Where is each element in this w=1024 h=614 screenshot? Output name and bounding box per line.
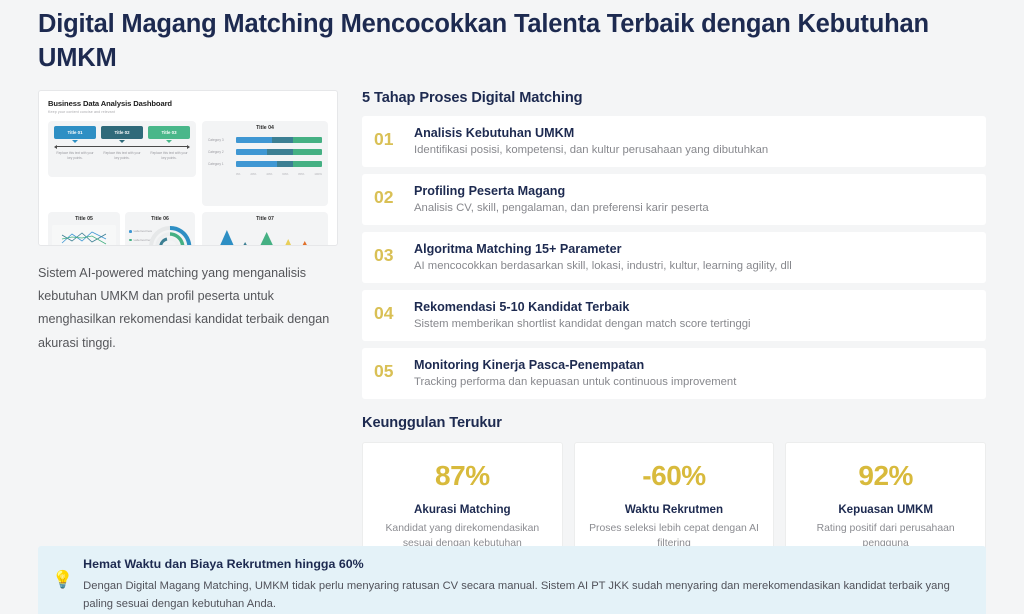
bar-axis-tick: 40% xyxy=(266,172,272,176)
dashboard-bar-row: Category 1 xyxy=(208,161,322,168)
dashboard-illustration-subtitle: Keep your content concise and relevant xyxy=(48,110,328,114)
donut-chart-icon xyxy=(147,224,193,246)
dashboard-tab-2-caption: Replace this text with your key points. xyxy=(101,151,143,161)
page-title: Digital Magang Matching Mencocokkan Tale… xyxy=(38,0,986,76)
legend-swatch-icon xyxy=(129,239,132,242)
step-description: Identifikasi posisi, kompetensi, dan kul… xyxy=(414,144,768,156)
dashboard-illustration-title: Business Data Analysis Dashboard xyxy=(48,99,328,108)
step-number: 05 xyxy=(374,358,400,382)
bar-segment-a xyxy=(236,161,277,168)
step-title: Rekomendasi 5-10 Kandidat Terbaik xyxy=(414,300,751,314)
bar-segment-a xyxy=(236,149,267,156)
bar-segment-c xyxy=(293,149,322,156)
step-number: 03 xyxy=(374,242,400,266)
dashboard-bar-label-2: Category 2 xyxy=(208,150,232,154)
dashboard-line-panel: Title 05 xyxy=(48,212,120,246)
bar-segment-b xyxy=(277,161,292,168)
step-number: 02 xyxy=(374,184,400,208)
bar-segment-b xyxy=(272,137,293,144)
process-step: 01 Analisis Kebutuhan UMKM Identifikasi … xyxy=(362,116,986,167)
bar-axis-tick: 60% xyxy=(282,172,288,176)
bar-segment-c xyxy=(293,161,322,168)
advantage-value: 87% xyxy=(375,460,550,492)
dashboard-tabs-row: Title 01 Title 02 Title 03 xyxy=(53,126,191,139)
dashboard-grid: Title 01 Title 02 Title 03 Replace this … xyxy=(48,121,328,246)
dashboard-area-panel-title: Title 07 xyxy=(207,212,323,222)
step-title: Profiling Peserta Magang xyxy=(414,184,709,198)
advantages-heading: Keunggulan Terukur xyxy=(362,415,986,431)
info-banner-body: Hemat Waktu dan Biaya Rekrutmen hingga 6… xyxy=(83,557,970,614)
content-columns: Business Data Analysis Dashboard Keep yo… xyxy=(38,90,986,568)
bar-segment-c xyxy=(293,137,322,144)
bar-axis-tick: 100% xyxy=(314,172,322,176)
step-description: Tracking performa dan kepuasan untuk con… xyxy=(414,376,736,388)
right-column: 5 Tahap Proses Digital Matching 01 Anali… xyxy=(362,90,986,568)
step-description: Sistem memberikan shortlist kandidat den… xyxy=(414,318,751,330)
step-number: 01 xyxy=(374,126,400,150)
bar-segment-a xyxy=(236,137,272,144)
bar-segment-b xyxy=(267,149,293,156)
legend-swatch-icon xyxy=(129,230,132,233)
process-step: 03 Algoritma Matching 15+ Parameter AI m… xyxy=(362,232,986,283)
dashboard-tab-3: Title 03 xyxy=(148,126,190,139)
process-heading: 5 Tahap Proses Digital Matching xyxy=(362,90,986,106)
bar-axis-tick: 80% xyxy=(298,172,304,176)
info-banner-text: Dengan Digital Magang Matching, UMKM tid… xyxy=(83,577,970,614)
advantage-label: Kepuasan UMKM xyxy=(798,503,973,516)
dashboard-bar-panel-title: Title 04 xyxy=(208,121,322,131)
step-description: Analisis CV, skill, pengalaman, dan pref… xyxy=(414,202,709,214)
dashboard-bar-track xyxy=(236,149,322,156)
dashboard-bar-axis: 0% 20% 40% 60% 80% 100% xyxy=(236,172,322,176)
step-title: Algoritma Matching 15+ Parameter xyxy=(414,242,792,256)
info-banner: 💡 Hemat Waktu dan Biaya Rekrutmen hingga… xyxy=(38,546,986,614)
advantage-label: Waktu Rekrutmen xyxy=(587,503,762,516)
dashboard-timeline-axis xyxy=(56,146,188,147)
dashboard-bar-panel: Title 04 Category 3 Category 2 xyxy=(202,121,328,206)
page-root: Digital Magang Matching Mencocokkan Tale… xyxy=(0,0,1024,614)
dashboard-tabs-panel: Title 01 Title 02 Title 03 Replace this … xyxy=(48,121,196,177)
dashboard-tab-3-caption: Replace this text with your key points. xyxy=(148,151,190,161)
bar-axis-tick: 0% xyxy=(236,172,240,176)
left-column: Business Data Analysis Dashboard Keep yo… xyxy=(38,90,338,568)
dashboard-bar-track xyxy=(236,137,322,144)
dashboard-tab-3-label: Title 03 xyxy=(161,130,176,135)
step-number: 04 xyxy=(374,300,400,324)
dashboard-bottom-left: Title 05 xyxy=(48,212,196,246)
dashboard-donut-panel-title: Title 06 xyxy=(125,212,195,222)
dashboard-tab-2-label: Title 02 xyxy=(114,130,129,135)
process-step: 02 Profiling Peserta Magang Analisis CV,… xyxy=(362,174,986,225)
advantage-label: Akurasi Matching xyxy=(375,503,550,516)
advantage-value: 92% xyxy=(798,460,973,492)
dashboard-bar-label-1: Category 1 xyxy=(208,162,232,166)
dashboard-tab-2: Title 02 xyxy=(101,126,143,139)
dashboard-tab-captions: Replace this text with your key points. … xyxy=(53,151,191,161)
dashboard-bar-label-3: Category 3 xyxy=(208,138,232,142)
dashboard-line-panel-title: Title 05 xyxy=(48,212,120,222)
illustration-caption: Sistem AI-powered matching yang menganal… xyxy=(38,262,338,355)
step-description: AI mencocokkan berdasarkan skill, lokasi… xyxy=(414,260,792,272)
bar-axis-tick: 20% xyxy=(250,172,256,176)
process-step-list: 01 Analisis Kebutuhan UMKM Identifikasi … xyxy=(362,116,986,399)
dashboard-tab-1: Title 01 xyxy=(54,126,96,139)
process-step: 04 Rekomendasi 5-10 Kandidat Terbaik Sis… xyxy=(362,290,986,341)
step-title: Monitoring Kinerja Pasca-Penempatan xyxy=(414,358,736,372)
dashboard-donut-panel: Title 06 Label text here Label text here… xyxy=(125,212,195,246)
dashboard-tab-1-label: Title 01 xyxy=(67,130,82,135)
dashboard-tab-1-caption: Replace this text with your key points. xyxy=(54,151,96,161)
process-step: 05 Monitoring Kinerja Pasca-Penempatan T… xyxy=(362,348,986,399)
step-title: Analisis Kebutuhan UMKM xyxy=(414,126,768,140)
lightbulb-icon: 💡 xyxy=(52,557,73,588)
dashboard-bar-row: Category 3 xyxy=(208,137,322,144)
dashboard-bar-row: Category 2 xyxy=(208,149,322,156)
dashboard-area-panel: Title 07 2019 2020 2021 xyxy=(202,212,328,246)
dashboard-illustration: Business Data Analysis Dashboard Keep yo… xyxy=(38,90,338,246)
advantage-value: -60% xyxy=(587,460,762,492)
info-banner-title: Hemat Waktu dan Biaya Rekrutmen hingga 6… xyxy=(83,557,970,571)
dashboard-line-chart-top xyxy=(52,225,116,246)
area-chart-icon xyxy=(207,222,323,246)
dashboard-bar-track xyxy=(236,161,322,168)
